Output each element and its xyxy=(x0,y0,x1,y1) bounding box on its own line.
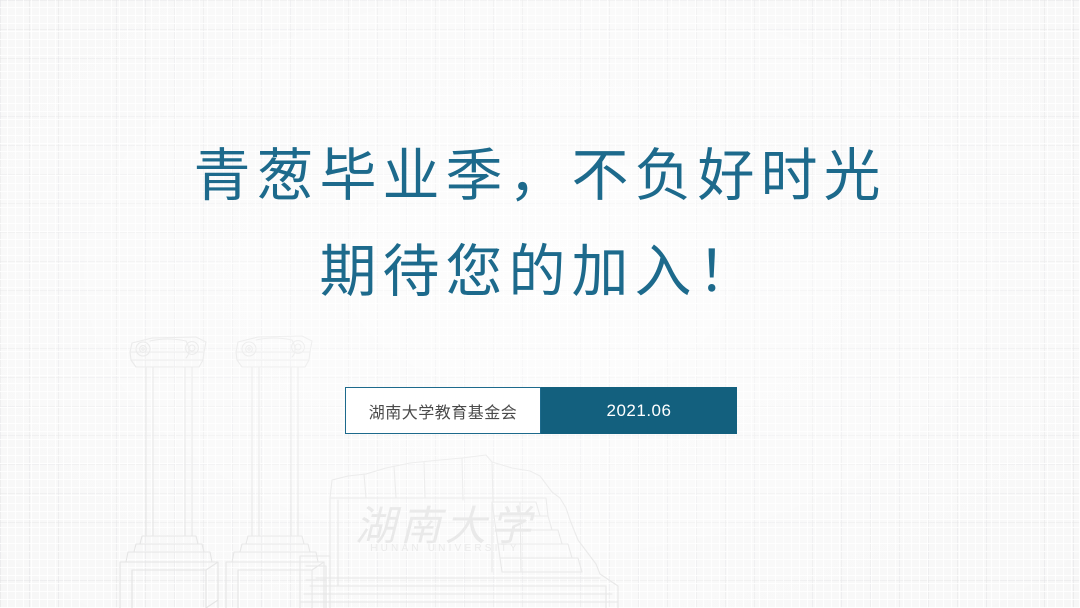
footer-bar: 湖南大学教育基金会 2021.06 xyxy=(345,387,737,434)
date-chip: 2021.06 xyxy=(541,387,737,434)
headline-line-2: 期待您的加入！ xyxy=(0,224,1080,320)
headline-block: 青葱毕业季，不负好时光 期待您的加入！ xyxy=(0,128,1080,320)
slide-canvas: 湖南大学 HUNAN UNIVERSITY 青葱毕业季，不负好时光 期待您的加入… xyxy=(0,0,1080,608)
ionic-column-right xyxy=(226,336,324,608)
ionic-column-left xyxy=(120,337,218,608)
headline-line-1: 青葱毕业季，不负好时光 xyxy=(0,128,1080,224)
small-pilaster xyxy=(300,556,330,608)
watermark-brand-en: HUNAN UNIVERSITY xyxy=(335,543,555,554)
organization-chip: 湖南大学教育基金会 xyxy=(345,387,541,434)
